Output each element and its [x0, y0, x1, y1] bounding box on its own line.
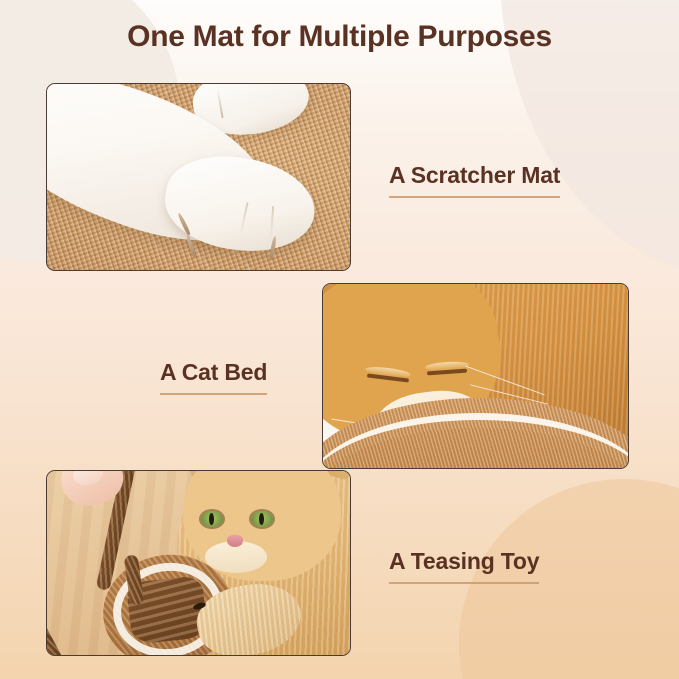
label-underline: [389, 582, 539, 584]
feature-label-text: A Cat Bed: [160, 359, 267, 385]
feature-label-text: A Teasing Toy: [389, 548, 539, 574]
image-content: [47, 471, 350, 655]
feature-label-bed: A Cat Bed: [160, 359, 267, 395]
feature-label-toy: A Teasing Toy: [389, 548, 539, 584]
cat-pupil-left: [209, 513, 214, 525]
feature-label-scratcher: A Scratcher Mat: [389, 162, 560, 198]
cat-nose: [227, 535, 243, 547]
cat-pupil-right: [259, 513, 264, 525]
label-underline: [389, 196, 560, 198]
page-title: One Mat for Multiple Purposes: [0, 20, 679, 54]
infographic-page: One Mat for Multiple Purposes A Scratche…: [0, 0, 679, 679]
image-content: [323, 284, 628, 468]
label-underline: [160, 393, 267, 395]
feature-image-scratcher: [46, 83, 351, 271]
feature-image-bed: [322, 283, 629, 469]
feature-image-toy: [46, 470, 351, 656]
feature-label-text: A Scratcher Mat: [389, 162, 560, 188]
image-content: [47, 84, 350, 270]
